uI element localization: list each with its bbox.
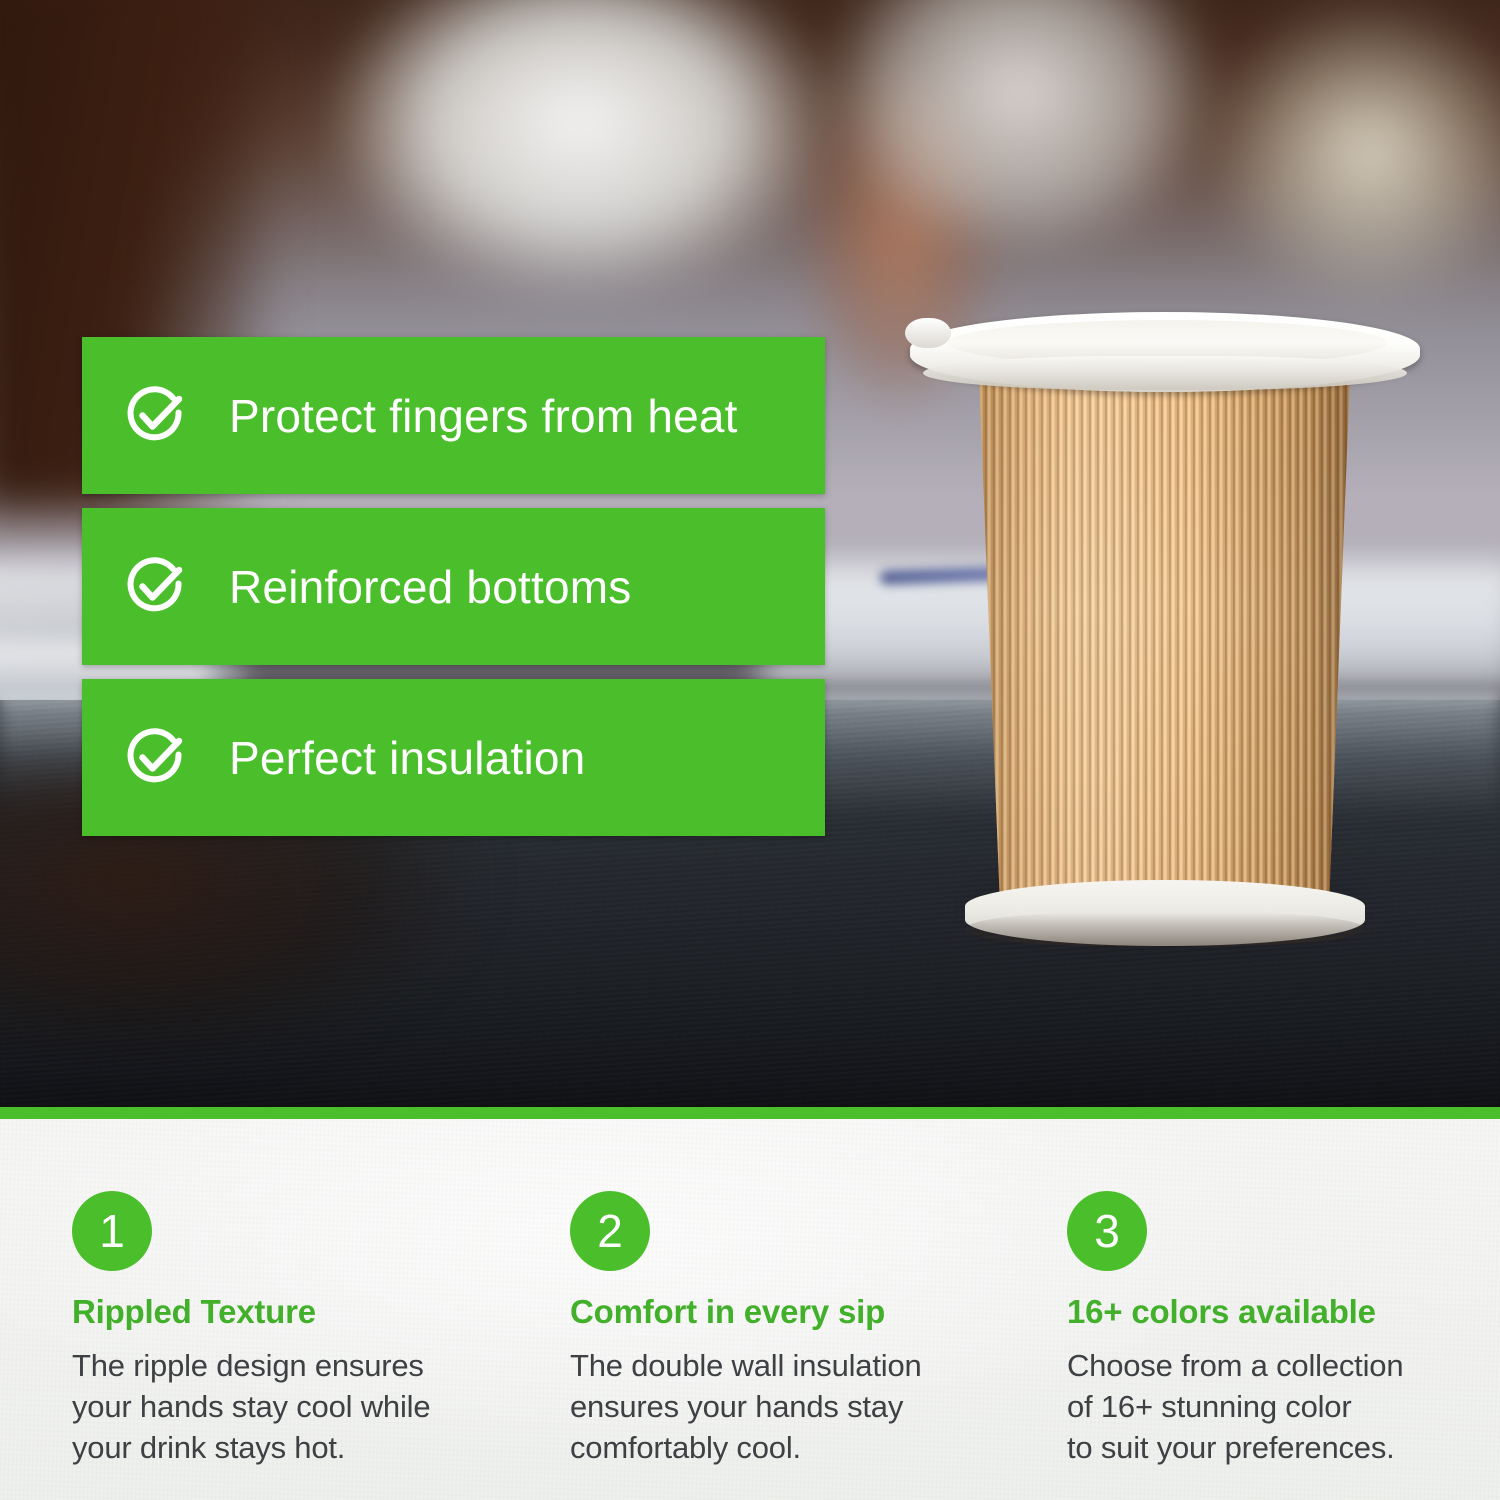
benefits-section: 1 Rippled Texture The ripple design ensu… <box>0 1119 1500 1500</box>
benefit-title: Comfort in every sip <box>570 1295 1010 1328</box>
step-number-badge: 2 <box>570 1191 650 1271</box>
cup-body-shading <box>937 348 1392 923</box>
feature-bar-protect-fingers: Protect fingers from heat <box>82 337 825 494</box>
feature-bar-label: Perfect insulation <box>229 735 585 781</box>
benefit-column-colors: 3 16+ colors available Choose from a col… <box>1067 1119 1467 1500</box>
benefit-description: The double wall insulation ensures your … <box>570 1346 1010 1469</box>
hero-photo-section: Protect fingers from heat Reinforced bot… <box>0 0 1500 1110</box>
product-infographic: Protect fingers from heat Reinforced bot… <box>0 0 1500 1500</box>
cup-base-shadow <box>965 912 1365 946</box>
feature-bar-perfect-insulation: Perfect insulation <box>82 679 825 836</box>
benefit-column-rippled-texture: 1 Rippled Texture The ripple design ensu… <box>72 1119 512 1500</box>
check-circle-icon <box>121 724 189 792</box>
cup-lid-tab <box>905 318 951 348</box>
feature-bar-label: Reinforced bottoms <box>229 564 631 610</box>
feature-bar-label: Protect fingers from heat <box>229 393 738 439</box>
feature-bar-list: Protect fingers from heat Reinforced bot… <box>82 337 825 836</box>
check-circle-icon <box>121 382 189 450</box>
feature-bar-reinforced-bottoms: Reinforced bottoms <box>82 508 825 665</box>
step-number-badge: 3 <box>1067 1191 1147 1271</box>
green-divider-band <box>0 1107 1500 1119</box>
benefits-columns: 1 Rippled Texture The ripple design ensu… <box>0 1119 1500 1500</box>
check-circle-icon <box>121 553 189 621</box>
coffee-cup-product-image <box>905 300 1425 955</box>
benefit-description: Choose from a collection of 16+ stunning… <box>1067 1346 1467 1469</box>
benefit-title: 16+ colors available <box>1067 1295 1467 1328</box>
cup-lid-rim <box>923 356 1407 390</box>
benefit-title: Rippled Texture <box>72 1295 512 1328</box>
benefit-column-comfort: 2 Comfort in every sip The double wall i… <box>570 1119 1010 1500</box>
benefit-description: The ripple design ensures your hands sta… <box>72 1346 512 1469</box>
step-number-badge: 1 <box>72 1191 152 1271</box>
